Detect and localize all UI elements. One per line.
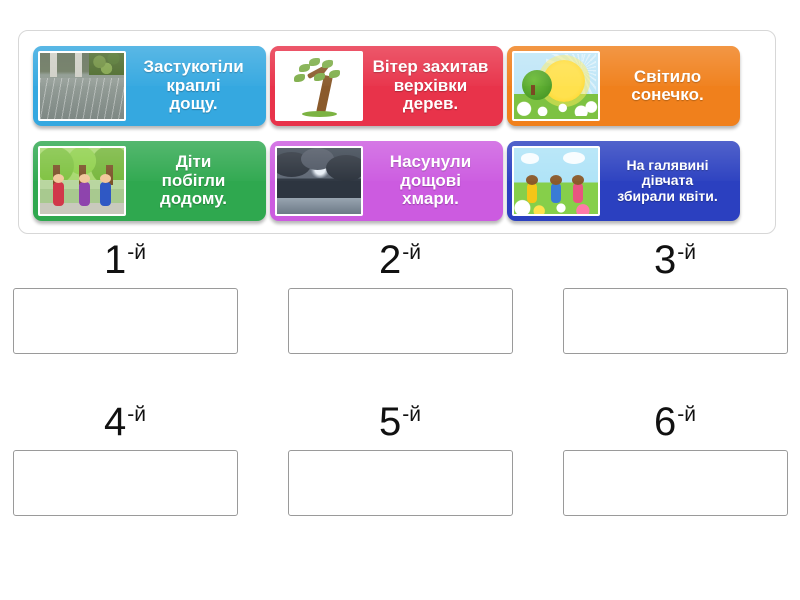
tile-label: Діти побігли додому. xyxy=(126,153,261,208)
draggable-tile-rain-clouds[interactable]: Насунули дощові хмари. xyxy=(270,141,503,221)
slot-label-3: 3-й xyxy=(654,240,696,280)
slot-label-1: 1-й xyxy=(104,240,146,280)
draggable-tile-wind-treetops[interactable]: Вітер захитав верхівки дерев. xyxy=(270,46,503,126)
slot-row-bottom: 4-й 5-й 6-й xyxy=(0,402,800,516)
slot-suffix: -й xyxy=(127,241,146,264)
slot-label-4: 4-й xyxy=(104,402,146,442)
slot-suffix: -й xyxy=(402,403,421,426)
slot-number: 6 xyxy=(654,400,676,444)
slot-cell-3: 3-й xyxy=(563,240,788,354)
slot-suffix: -й xyxy=(677,403,696,426)
drop-zone-5[interactable] xyxy=(288,450,513,516)
children-running-illustration xyxy=(38,146,126,216)
storm-clouds-photo xyxy=(275,146,363,216)
drop-zone-2[interactable] xyxy=(288,288,513,354)
slot-number: 5 xyxy=(379,400,401,444)
drop-zone-4[interactable] xyxy=(13,450,238,516)
slot-suffix: -й xyxy=(127,403,146,426)
slot-suffix: -й xyxy=(677,241,696,264)
slot-suffix: -й xyxy=(402,241,421,264)
tile-label: Вітер захитав верхівки дерев. xyxy=(363,58,498,113)
slot-number: 1 xyxy=(104,238,126,282)
tile-label: Насунули дощові хмари. xyxy=(363,153,498,208)
slot-number: 4 xyxy=(104,400,126,444)
draggable-tile-rain-drops[interactable]: Застукотіли краплі дощу. xyxy=(33,46,266,126)
slot-cell-2: 2-й xyxy=(288,240,513,354)
tile-tray: Застукотіли краплі дощу. Вітер захитав в… xyxy=(18,30,776,234)
draggable-tile-children-ran-home[interactable]: Діти побігли додому. xyxy=(33,141,266,221)
slot-cell-5: 5-й xyxy=(288,402,513,516)
drop-zone-3[interactable] xyxy=(563,288,788,354)
rain-on-pavement-photo xyxy=(38,51,126,121)
tile-tray-grid: Застукотіли краплі дощу. Вітер захитав в… xyxy=(33,46,763,221)
drop-zone-6[interactable] xyxy=(563,450,788,516)
slot-label-5: 5-й xyxy=(379,402,421,442)
draggable-tile-sun-shone[interactable]: Світило сонечко. xyxy=(507,46,740,126)
windblown-tree-illustration xyxy=(275,51,363,121)
tile-label: Світило сонечко. xyxy=(600,68,735,105)
slot-label-6: 6-й xyxy=(654,402,696,442)
slot-row-top: 1-й 2-й 3-й xyxy=(0,240,800,354)
answer-slots: 1-й 2-й 3-й 4-й 5-й 6-й xyxy=(0,240,800,516)
drop-zone-1[interactable] xyxy=(13,288,238,354)
slot-cell-1: 1-й xyxy=(13,240,238,354)
draggable-tile-girls-picking-flowers[interactable]: На галявині дівчата збирали квіти. xyxy=(507,141,740,221)
slot-cell-4: 4-й xyxy=(13,402,238,516)
slot-label-2: 2-й xyxy=(379,240,421,280)
slot-cell-6: 6-й xyxy=(563,402,788,516)
tile-label: Застукотіли краплі дощу. xyxy=(126,58,261,113)
sun-over-meadow-illustration xyxy=(512,51,600,121)
girls-picking-flowers-illustration xyxy=(512,146,600,216)
slot-number: 2 xyxy=(379,238,401,282)
slot-number: 3 xyxy=(654,238,676,282)
tile-label: На галявині дівчата збирали квіти. xyxy=(600,158,735,203)
